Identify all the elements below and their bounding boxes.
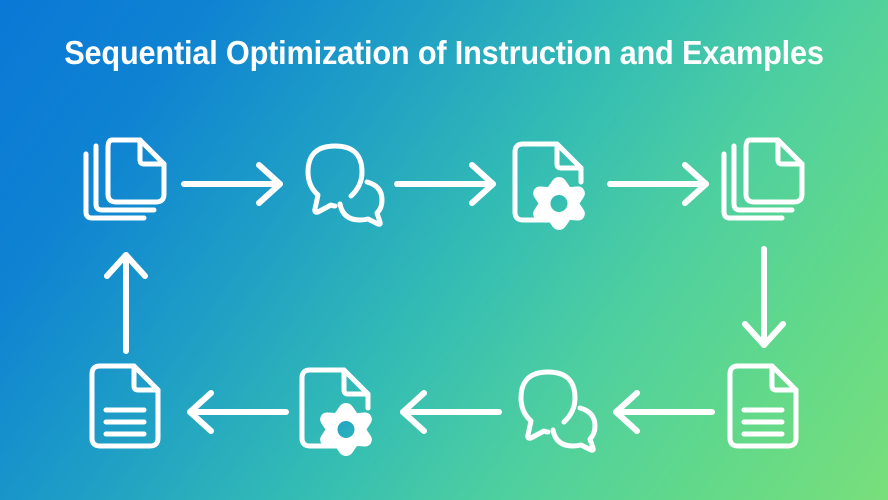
document-lines-icon xyxy=(78,358,174,454)
node-document-lines-bottom-left xyxy=(78,358,174,454)
arrow-left-icon xyxy=(606,390,716,434)
arrow-left-icon xyxy=(180,390,290,434)
speech-bubbles-icon xyxy=(290,134,386,230)
page-title: Sequential Optimization of Instruction a… xyxy=(31,34,857,72)
arrow-left-icon xyxy=(393,390,503,434)
slide-canvas: Sequential Optimization of Instruction a… xyxy=(0,0,888,500)
document-lines-icon xyxy=(716,358,812,454)
node-document-gear-bottom xyxy=(290,360,386,456)
speech-bubbles-icon xyxy=(503,360,599,456)
arrow-right-icon xyxy=(606,162,716,206)
document-gear-icon xyxy=(290,360,386,456)
document-gear-icon xyxy=(503,134,599,230)
arrow-right-icon xyxy=(393,162,503,206)
node-speech-bubbles-top xyxy=(290,134,386,230)
arrow-right-icon xyxy=(180,162,290,206)
node-document-stack-top-right xyxy=(716,132,812,228)
node-document-stack-top-left xyxy=(78,132,174,228)
node-document-gear-top xyxy=(503,134,599,230)
arrow-up-icon xyxy=(104,245,148,355)
document-stack-icon xyxy=(716,132,812,228)
node-speech-bubbles-bottom xyxy=(503,360,599,456)
node-document-lines-bottom-right xyxy=(716,358,812,454)
document-stack-icon xyxy=(78,132,174,228)
arrow-down-icon xyxy=(742,245,786,355)
